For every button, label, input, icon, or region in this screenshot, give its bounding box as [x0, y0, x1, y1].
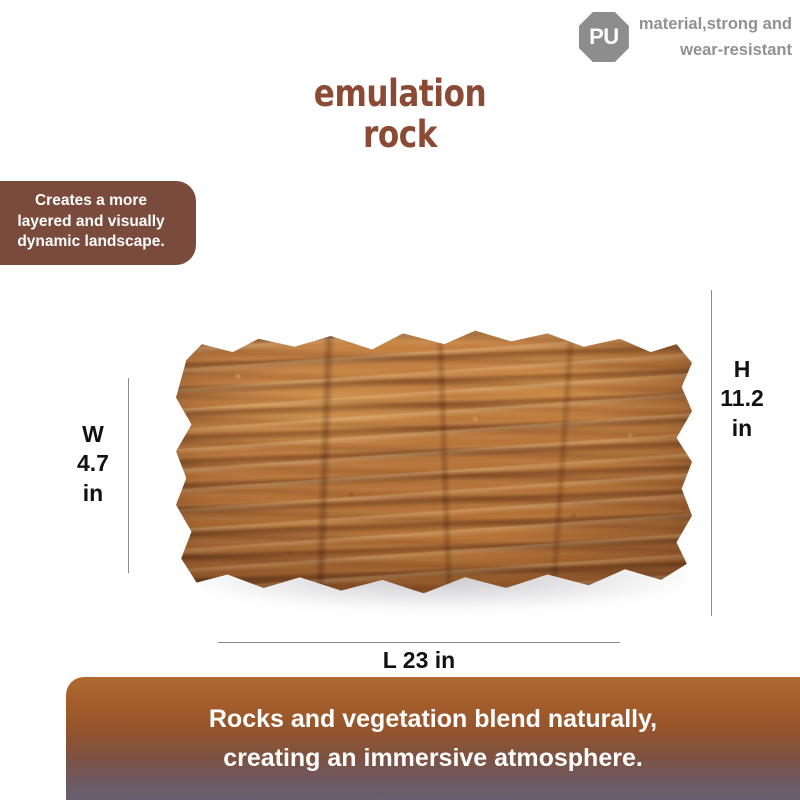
feature-callout-line-1: Creates a more — [0, 191, 182, 212]
height-axis: H — [700, 355, 784, 384]
product-image — [150, 300, 710, 615]
bottom-banner-line-1: Rocks and vegetation blend naturally, — [209, 700, 657, 739]
width-unit: in — [52, 479, 134, 508]
product-infographic: PU material,strong and wear-resistant em… — [0, 0, 800, 800]
width-dimension-label: W 4.7 in — [52, 420, 134, 508]
feature-callout-line-3: dynamic landscape. — [0, 232, 182, 253]
bottom-banner-line-2: creating an immersive atmosphere. — [223, 739, 643, 778]
emulation-rock-body — [176, 328, 692, 596]
feature-callout-line-2: layered and visually — [0, 212, 182, 233]
material-badge-line-2: wear-resistant — [639, 38, 792, 64]
height-unit: in — [700, 414, 784, 443]
material-badge-text: material,strong and wear-resistant — [639, 8, 792, 63]
bottom-banner: Rocks and vegetation blend naturally, cr… — [66, 677, 800, 800]
feature-callout: Creates a more layered and visually dyna… — [0, 181, 196, 265]
pu-logo-icon: PU — [579, 12, 629, 62]
length-guide-line — [218, 642, 620, 643]
width-value: 4.7 — [52, 449, 134, 478]
width-axis: W — [52, 420, 134, 449]
page-title-line-2: rock — [64, 114, 736, 155]
height-value: 11.2 — [700, 384, 784, 413]
pu-logo-text: PU — [589, 26, 619, 48]
page-title-line-1: emulation — [64, 73, 736, 114]
material-badge-line-1: material,strong and — [639, 12, 792, 38]
length-dimension-label: L 23 in — [218, 646, 620, 675]
rock-vignette-layer — [176, 328, 692, 596]
material-badge: PU material,strong and wear-resistant — [579, 8, 792, 63]
height-dimension-label: H 11.2 in — [700, 355, 784, 443]
height-guide-line — [711, 290, 712, 616]
page-title: emulation rock — [64, 73, 736, 156]
